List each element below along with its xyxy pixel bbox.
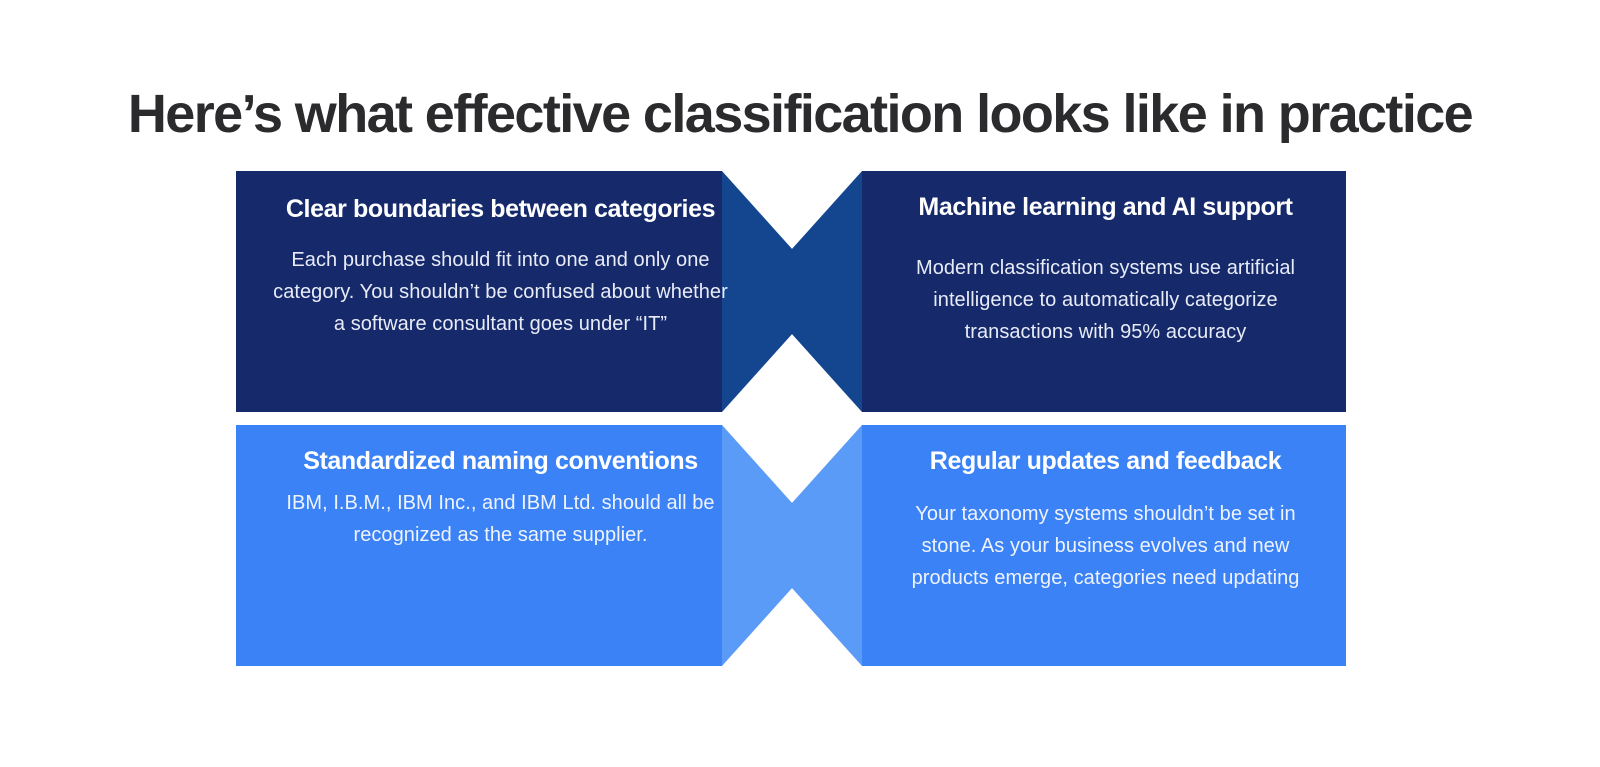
card-row-top: Clear boundaries between categories Each…	[236, 171, 1346, 412]
card-body-text: IBM, I.B.M., IBM Inc., and IBM Ltd. shou…	[278, 487, 723, 552]
card-body-text: Your taxonomy systems shouldn’t be set i…	[891, 498, 1320, 595]
card-top-left[interactable]: Clear boundaries between categories Each…	[236, 171, 793, 412]
card-top-right[interactable]: Machine learning and AI support Modern c…	[787, 171, 1346, 412]
card-row-bottom: Standardized naming conventions IBM, I.B…	[236, 425, 1346, 666]
card-title: Regular updates and feedback	[930, 445, 1281, 478]
page-title: Here’s what effective classification loo…	[0, 83, 1600, 146]
card-title: Standardized naming conventions	[303, 445, 698, 478]
card-title: Machine learning and AI support	[918, 191, 1292, 224]
card-bottom-right[interactable]: Regular updates and feedback Your taxono…	[787, 425, 1346, 666]
card-body-text: Each purchase should fit into one and on…	[266, 244, 736, 341]
card-body-text: Modern classification systems use artifi…	[891, 252, 1320, 349]
card-bottom-left[interactable]: Standardized naming conventions IBM, I.B…	[236, 425, 793, 666]
chevron-card-grid: Clear boundaries between categories Each…	[236, 171, 1346, 662]
card-title: Clear boundaries between categories	[286, 193, 715, 226]
